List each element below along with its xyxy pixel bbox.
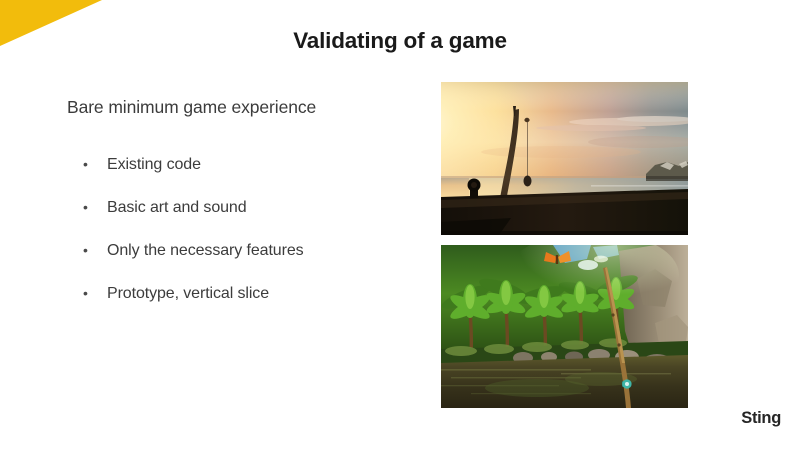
lead-statement: Bare minimum game experience [67,97,417,118]
list-item-label: Prototype, vertical slice [107,285,417,303]
content-column: Bare minimum game experience • Existing … [67,97,417,303]
bullet-dot-icon: • [83,200,107,214]
bullet-dot-icon: • [83,157,107,171]
jungle-pond-screenshot [441,245,688,408]
list-item-label: Only the necessary features [107,242,417,260]
list-item: • Existing code [67,156,417,174]
media-stack [441,82,688,408]
bullet-list: • Existing code • Basic art and sound • … [67,156,417,303]
list-item: • Basic art and sound [67,199,417,217]
page-title: Validating of a game [0,28,800,54]
sunset-fishing-photo [441,82,688,235]
list-item-label: Basic art and sound [107,199,417,217]
bullet-dot-icon: • [83,286,107,300]
list-item-label: Existing code [107,156,417,174]
list-item: • Prototype, vertical slice [67,285,417,303]
list-item: • Only the necessary features [67,242,417,260]
bullet-dot-icon: • [83,243,107,257]
slide-canvas: Validating of a game Bare minimum game e… [0,0,800,450]
brand-logo: Sting [741,409,781,428]
